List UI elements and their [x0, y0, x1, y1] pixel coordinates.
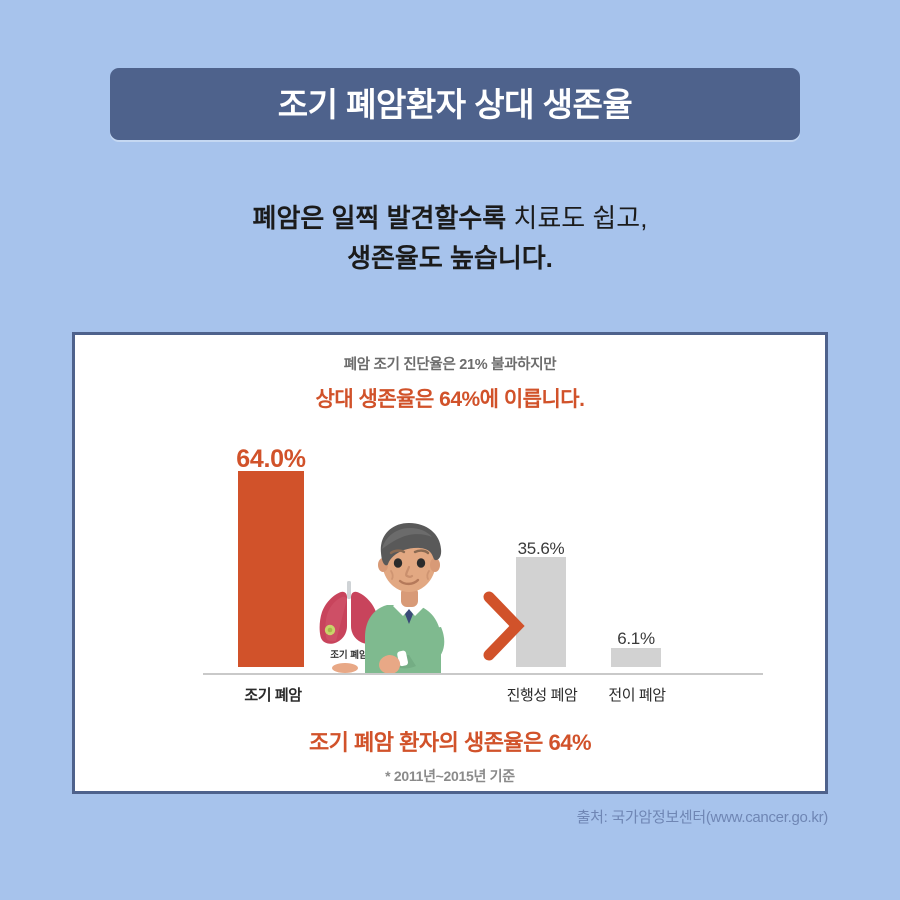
- page-title-banner: 조기 폐암환자 상대 생존율: [110, 68, 800, 140]
- chart-panel: 폐암 조기 진단율은 21% 불과하지만 상대 생존율은 64%에 이릅니다. …: [72, 332, 828, 794]
- elderly-man-illustration: 조기 폐암: [303, 509, 485, 675]
- bar-value-label-metastatic: 6.1%: [596, 629, 676, 649]
- chart-conclusion: 조기 폐암 환자의 생존율은 64%: [75, 725, 825, 757]
- bar-chart-plot-area: 64.0% 35.6% 6.1%: [75, 335, 825, 791]
- chart-period-note: * 2011년~2015년 기준: [75, 766, 825, 786]
- card-caption: 조기 폐암: [330, 649, 368, 661]
- bar-value-label-early: 64.0%: [215, 445, 327, 474]
- subtitle-line-1: 폐암은 일찍 발견할수록 치료도 쉽고,: [0, 198, 900, 238]
- subtitle-line-1-light: 치료도 쉽고,: [513, 203, 647, 233]
- bar-metastatic-lung-cancer: [611, 648, 661, 667]
- source-credit: 출처: 국가암정보센터(www.cancer.go.kr): [577, 806, 828, 827]
- chart-footer: 조기 폐암 환자의 생존율은 64% * 2011년~2015년 기준: [75, 725, 825, 786]
- category-label-metastatic: 전이 폐암: [594, 684, 680, 705]
- subtitle-block: 폐암은 일찍 발견할수록 치료도 쉽고, 생존율도 높습니다.: [0, 198, 900, 279]
- page-title: 조기 폐암환자 상대 생존율: [278, 88, 632, 121]
- chevron-right-icon: [479, 591, 527, 661]
- chart-baseline-axis: [203, 673, 763, 675]
- category-label-advanced: 진행성 폐암: [489, 684, 595, 705]
- subtitle-line-1-bold: 폐암은 일찍 발견할수록: [253, 203, 514, 233]
- subtitle-line-2: 생존율도 높습니다.: [0, 238, 900, 278]
- bar-value-label-advanced: 35.6%: [501, 539, 581, 559]
- category-label-early: 조기 폐암: [221, 684, 325, 705]
- bar-early-lung-cancer: [238, 471, 304, 667]
